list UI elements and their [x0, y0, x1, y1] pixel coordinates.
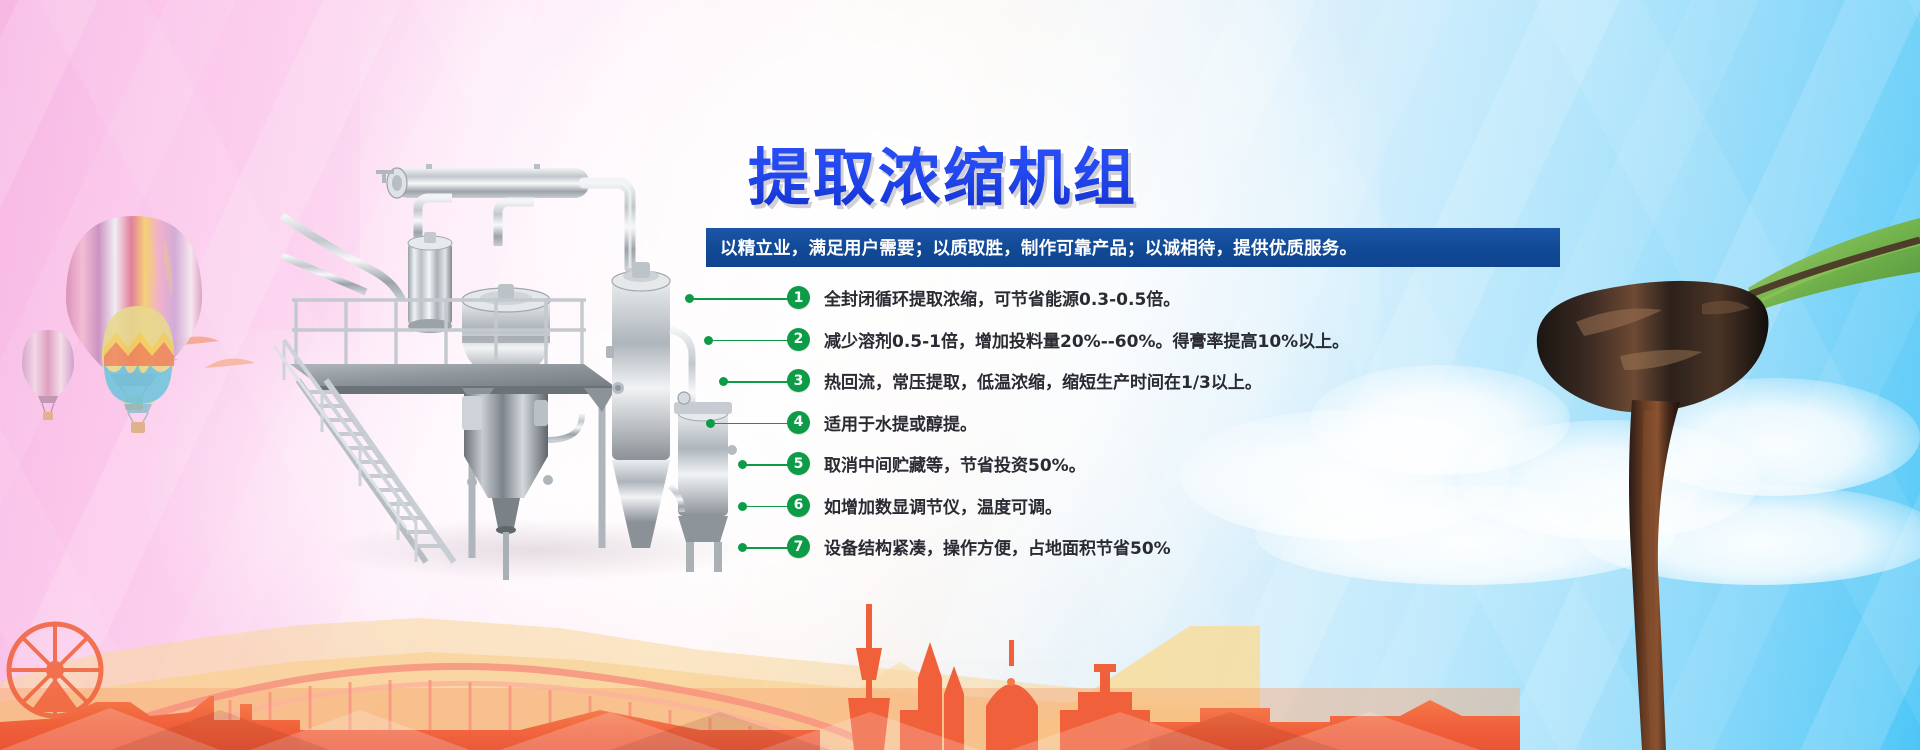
feature-number-badge: 7: [787, 535, 810, 558]
feature-item: 1 全封闭循环提取浓缩，可节省能源0.3-0.5倍。: [680, 283, 1580, 312]
feature-item: 3 热回流，常压提取，低温浓缩，缩短生产时间在1/3以上。: [680, 366, 1580, 395]
slogan-bar: 以精立业，满足用户需要；以质取胜，制作可靠产品；以诚相待，提供优质服务。: [706, 228, 1560, 267]
balloon-medium-icon: [102, 306, 174, 433]
leader-line: [711, 340, 792, 342]
ferris-wheel-icon: [9, 624, 101, 716]
feature-item: 2 减少溶剂0.5-1倍，增加投料量20%--60%。得膏率提高10%以上。: [680, 325, 1580, 354]
feature-text: 取消中间贮藏等，节省投资50%。: [824, 451, 1086, 476]
leader-line: [745, 547, 792, 549]
feature-number-badge: 3: [787, 369, 810, 392]
feature-number-badge: 1: [787, 286, 810, 309]
feature-text: 热回流，常压提取，低温浓缩，缩短生产时间在1/3以上。: [824, 368, 1262, 393]
balloon-small-icon: [22, 330, 74, 420]
access-platform: [290, 298, 616, 558]
feature-text: 减少溶剂0.5-1倍，增加投料量20%--60%。得膏率提高10%以上。: [824, 327, 1349, 352]
feature-text: 全封闭循环提取浓缩，可节省能源0.3-0.5倍。: [824, 285, 1180, 310]
feature-number-badge: 6: [787, 494, 810, 517]
concentrator-vessel: [462, 394, 553, 580]
feature-number-badge: 5: [787, 452, 810, 475]
feature-item: 5 取消中间贮藏等，节省投资50%。: [680, 449, 1580, 478]
feature-item: 7 设备结构紧凑，操作方便，占地面积节省50%: [680, 532, 1580, 561]
slogan-text: 以精立业，满足用户需要；以质取胜，制作可靠产品；以诚相待，提供优质服务。: [720, 235, 1357, 260]
leader-line: [692, 298, 792, 300]
feature-text: 适用于水提或醇提。: [824, 410, 977, 435]
feature-text: 设备结构紧凑，操作方便，占地面积节省50%: [824, 534, 1171, 559]
feature-text: 如增加数显调节仪，温度可调。: [824, 493, 1062, 518]
feature-item: 6 如增加数显调节仪，温度可调。: [680, 491, 1580, 520]
feature-number-badge: 2: [787, 328, 810, 351]
leader-line: [745, 506, 792, 508]
page-title: 提取浓缩机组: [748, 145, 1138, 210]
feature-number-badge: 4: [787, 411, 810, 434]
leader-line: [745, 464, 792, 466]
hot-air-balloons: [0, 170, 290, 440]
leader-line: [726, 381, 792, 383]
dome-building-icon: [986, 640, 1038, 750]
feature-item: 4 适用于水提或醇提。: [680, 408, 1580, 437]
feature-list: 1 全封闭循环提取浓缩，可节省能源0.3-0.5倍。 2 减少溶剂0.5-1倍，…: [680, 283, 1580, 574]
product-banner: 提取浓缩机组 提取浓缩机组 以精立业，满足用户需要；以质取胜，制作可靠产品；以诚…: [0, 0, 1920, 750]
city-skyline-silhouette: [0, 570, 1520, 750]
leader-line: [713, 423, 792, 425]
